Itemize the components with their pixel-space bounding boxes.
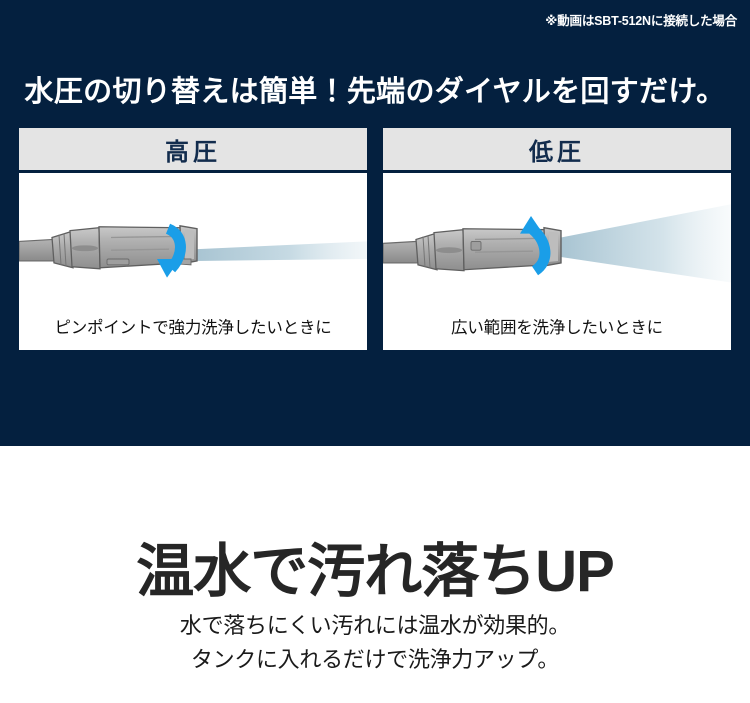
nozzle-narrow-jet-illustration bbox=[19, 173, 367, 302]
bottom-headline: 温水で汚れ落ちUP bbox=[0, 524, 750, 608]
page-title: 水圧の切り替えは簡単！先端のダイヤルを回すだけ。 bbox=[0, 68, 750, 110]
panel-caption-label: ピンポイントで強力洗浄したいときに bbox=[54, 314, 331, 338]
panel-header-label: 高圧 bbox=[165, 132, 221, 167]
panel-caption-high-pressure: ピンポイントで強力洗浄したいときに bbox=[19, 302, 367, 350]
top-navy-section: ※動画はSBT-512Nに接続した場合 水圧の切り替えは簡単！先端のダイヤルを回… bbox=[0, 0, 750, 446]
nozzle-wide-fan-illustration bbox=[383, 173, 731, 302]
bottom-subtext: 水で落ちにくい汚れには温水が効果的。 タンクに入れるだけで洗浄力アップ。 bbox=[0, 609, 750, 677]
subtext-line-2: タンクに入れるだけで洗浄力アップ。 bbox=[0, 643, 750, 677]
panel-caption-low-pressure: 広い範囲を洗浄したいときに bbox=[383, 302, 731, 350]
nozzle-photo-high-pressure bbox=[19, 173, 367, 302]
panel-header-high-pressure: 高圧 bbox=[19, 128, 367, 173]
panel-caption-label: 広い範囲を洗浄したいときに bbox=[451, 314, 663, 338]
bottom-white-section: 温水で汚れ落ちUP 水で落ちにくい汚れには温水が効果的。 タンクに入れるだけで洗… bbox=[0, 446, 750, 703]
panel-header-label: 低圧 bbox=[529, 132, 585, 167]
video-note: ※動画はSBT-512Nに接続した場合 bbox=[545, 10, 737, 29]
panel-high-pressure: 高圧 bbox=[19, 128, 367, 350]
pressure-comparison-panels: 高圧 bbox=[19, 128, 731, 350]
subtext-line-1: 水で落ちにくい汚れには温水が効果的。 bbox=[0, 609, 750, 643]
nozzle-photo-low-pressure bbox=[383, 173, 731, 302]
panel-header-low-pressure: 低圧 bbox=[383, 128, 731, 173]
panel-low-pressure: 低圧 bbox=[383, 128, 731, 350]
